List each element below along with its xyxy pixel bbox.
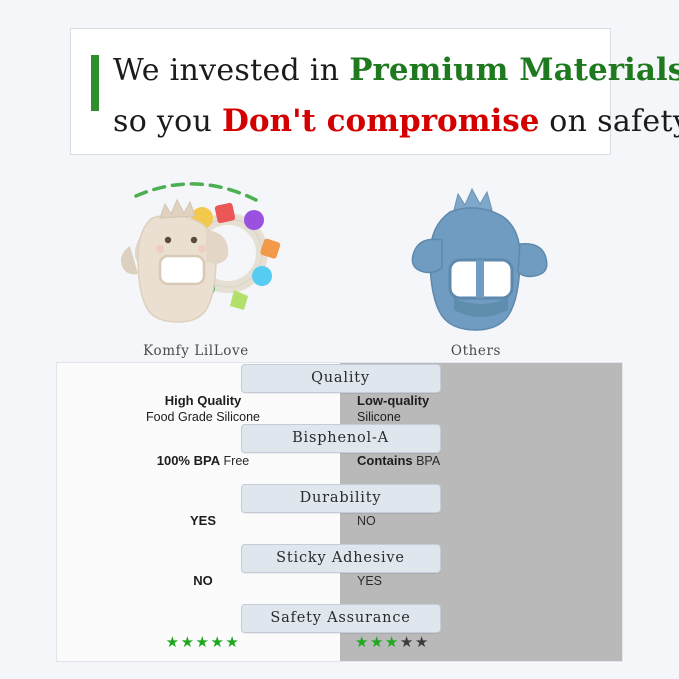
product-right: Others xyxy=(336,168,616,363)
comparison-rows: Quality High Quality Food Grade Silicone… xyxy=(57,363,623,662)
table-row: Safety Assurance ★★★★★ ★★★★★ xyxy=(57,603,623,662)
row-value-right-quality-strong: Low-quality xyxy=(357,393,429,408)
row-value-left-sticky: NO xyxy=(83,573,323,589)
table-row: Quality High Quality Food Grade Silicone… xyxy=(57,363,623,423)
comparison-table: Quality High Quality Food Grade Silicone… xyxy=(56,362,623,662)
headline-line-1-prefix: We invested in xyxy=(113,53,349,88)
product-comparison-infographic: We invested in Premium Materials so you … xyxy=(0,0,679,679)
row-value-right-bpa-sub: BPA xyxy=(413,454,441,468)
row-label-quality: Quality xyxy=(241,364,441,393)
headline-line-2-highlight: Don't compromise xyxy=(222,103,540,139)
row-value-left-sticky-strong: NO xyxy=(193,573,213,588)
headline-line-1: We invested in Premium Materials xyxy=(113,45,602,96)
star-filled-icon: ★ xyxy=(181,634,196,651)
row-value-right-bpa: Contains BPA xyxy=(357,453,597,469)
headline-line-2-suffix: on safety xyxy=(539,104,679,139)
star-filled-icon: ★ xyxy=(385,634,400,651)
row-value-left-bpa-strong: 100% BPA xyxy=(157,453,220,468)
row-value-right-durability: NO xyxy=(357,513,597,529)
table-row: Sticky Adhesive NO YES xyxy=(57,543,623,603)
table-row: Bisphenol-A 100% BPA Free Contains BPA xyxy=(57,423,623,483)
star-filled-icon: ★ xyxy=(355,634,370,651)
star-filled-icon: ★ xyxy=(370,634,385,651)
star-empty-icon: ★ xyxy=(415,634,430,651)
row-value-left-quality-strong: High Quality xyxy=(165,393,242,408)
product-right-caption: Others xyxy=(336,343,616,359)
product-images-row: Komfy LilLove Other xyxy=(0,168,679,363)
headline-banner: We invested in Premium Materials so you … xyxy=(70,28,611,155)
star-filled-icon: ★ xyxy=(166,634,181,651)
row-value-left-durability: YES xyxy=(83,513,323,529)
row-value-left-bpa: 100% BPA Free xyxy=(83,453,323,469)
product-left: Komfy LilLove xyxy=(56,168,336,363)
rating-left: ★★★★★ xyxy=(83,635,323,651)
row-label-sticky-adhesive: Sticky Adhesive xyxy=(241,544,441,573)
row-value-right-quality: Low-quality Silicone xyxy=(357,393,597,425)
star-filled-icon: ★ xyxy=(196,634,211,651)
row-label-durability: Durability xyxy=(241,484,441,513)
table-row: Durability YES NO xyxy=(57,483,623,543)
row-label-safety-assurance: Safety Assurance xyxy=(241,604,441,633)
row-value-left-durability-strong: YES xyxy=(190,513,216,528)
row-label-bisphenol-a: Bisphenol-A xyxy=(241,424,441,453)
row-value-left-bpa-sub: Free xyxy=(220,454,249,468)
row-value-right-sticky-text: YES xyxy=(357,574,382,588)
star-empty-icon: ★ xyxy=(400,634,415,651)
rating-right: ★★★★★ xyxy=(355,635,595,651)
row-value-right-sticky: YES xyxy=(357,573,597,589)
star-filled-icon: ★ xyxy=(225,634,240,651)
headline-text-block: We invested in Premium Materials so you … xyxy=(113,45,602,147)
product-left-caption: Komfy LilLove xyxy=(56,343,336,359)
row-value-right-durability-text: NO xyxy=(357,514,376,528)
headline-line-2-prefix: so you xyxy=(113,104,222,139)
headline-line-2: so you Don't compromise on safety xyxy=(113,96,602,147)
beige-baby-teether-mitten-icon xyxy=(56,168,336,338)
row-value-right-bpa-strong: Contains xyxy=(357,453,413,468)
headline-line-1-highlight: Premium Materials xyxy=(349,52,679,88)
headline-accent-bar xyxy=(91,55,99,111)
row-value-left-quality: High Quality Food Grade Silicone xyxy=(83,393,323,425)
blue-baby-teether-mitten-icon xyxy=(336,168,616,338)
star-filled-icon: ★ xyxy=(210,634,225,651)
